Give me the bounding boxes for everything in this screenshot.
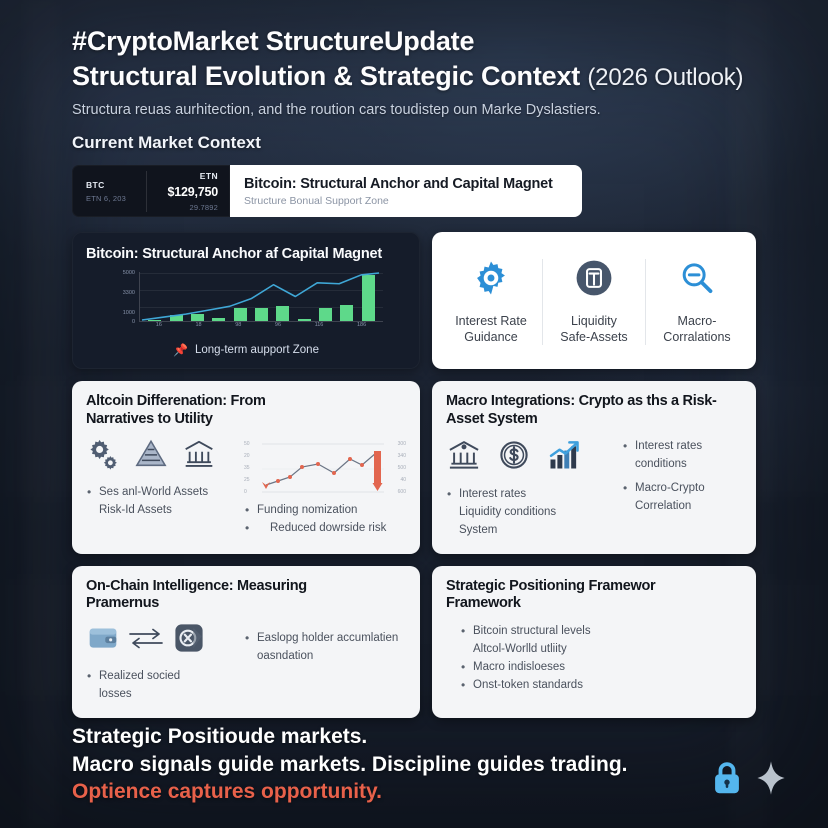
gear-target-icon xyxy=(472,259,510,302)
content-grid: Bitcoin: Structural Anchor af Capital Ma… xyxy=(72,232,756,718)
altcoin-right-bullets: Funding nomization Reduced dowrside risk xyxy=(244,503,406,539)
list-item: oasndation xyxy=(244,649,406,665)
pillar-label-line1: Liquidity xyxy=(560,313,627,329)
macro-left-bullets: Interest rates Liquidity conditions Syst… xyxy=(446,487,614,541)
list-item: Liquidity conditions xyxy=(446,505,614,521)
x-tick: 96 xyxy=(275,322,281,334)
macro-title-line1: Macro Integrations: Crypto as ths a Risk… xyxy=(446,393,742,410)
onchain-title-line2: Pramernus xyxy=(86,595,406,612)
pin-icon: 📌 xyxy=(173,343,188,357)
list-item: Interest rates xyxy=(622,439,742,455)
altcoin-differentiation-card[interactable]: Altcoin Differenation: From Narratives t… xyxy=(72,381,420,553)
pillar-label-line1: Interest Rate xyxy=(455,313,527,329)
pyramid-icon xyxy=(134,437,168,476)
list-item: Macro-Crypto xyxy=(622,481,742,497)
macro-icon-row xyxy=(446,437,614,478)
list-item: Easlopg holder accumlatien xyxy=(244,631,406,647)
macro-integrations-card[interactable]: Macro Integrations: Crypto as ths a Risk… xyxy=(432,381,756,553)
onchain-right-bullets: Easlopg holder accumlatien oasndation xyxy=(244,631,406,667)
pillar-interest-rate[interactable]: Interest Rate Guidance xyxy=(440,259,542,345)
transfer-arrows-icon xyxy=(126,625,166,656)
header-deck: Structura reuas aurhitection, and the ro… xyxy=(72,101,756,121)
list-item: conditions xyxy=(622,457,742,473)
page-title: Structural Evolution & Strategic Context… xyxy=(72,60,756,93)
magnifier-minus-icon xyxy=(678,259,716,302)
altcoin-title-line1: Altcoin Differenation: From xyxy=(86,393,406,410)
page-title-suffix: (2026 Outlook) xyxy=(587,64,743,91)
list-item: Risk-Id Assets xyxy=(86,503,236,519)
ticker-right-quote: ETN $129,750 29.7892 xyxy=(146,171,219,212)
altcoin-mini-chart: 50 20 35 25 0 300 340 500 40 600 xyxy=(244,439,406,497)
strategy-title-line1: Strategic Positioning Framewor xyxy=(446,578,742,595)
ticker-quote-panel[interactable]: BTC ETN 6, 203 ETN $129,750 29.7892 xyxy=(72,165,230,217)
growth-bars-icon xyxy=(546,437,582,478)
ticker-right-sub: 29.7892 xyxy=(189,203,218,212)
chart-plot-area xyxy=(139,272,383,322)
section-label: Current Market Context xyxy=(72,133,756,153)
y-tick: 1000 xyxy=(123,310,135,316)
strategy-title-line2: Framework xyxy=(446,595,742,612)
liquidity-box-icon xyxy=(575,259,613,302)
macro-right-bullets: Interest rates conditions Macro-Crypto C… xyxy=(622,439,742,516)
x-tick: 18 xyxy=(195,322,201,334)
pillar-label-line2: Guidance xyxy=(455,329,527,345)
pillar-label-line2: Corralations xyxy=(663,329,730,345)
list-item: Bitcoin structural levels xyxy=(460,624,742,640)
list-item: System xyxy=(446,523,614,539)
footer-icons xyxy=(710,759,788,802)
footer-line-1: Strategic Positioude markets. xyxy=(72,723,788,751)
page-title-main: Structural Evolution & Strategic Context xyxy=(72,61,580,91)
ticker-left-sub: ETN 6, 203 xyxy=(86,194,146,203)
ticker-headline: Bitcoin: Structural Anchor and Capital M… xyxy=(244,176,568,192)
exchange-icon xyxy=(172,621,206,660)
infographic-page: #CryptoMarket StructureUpdate Structural… xyxy=(0,0,828,828)
pillar-liquidity[interactable]: Liquidity Safe-Assets xyxy=(542,259,645,345)
bitcoin-chart-card[interactable]: Bitcoin: Structural Anchor af Capital Ma… xyxy=(72,232,420,369)
onchain-title-line1: On-Chain Intelligence: Measuring xyxy=(86,578,406,595)
x-tick: 186 xyxy=(357,322,366,334)
footer-line-2: Macro signals guide markets. Discipline … xyxy=(72,751,788,779)
header-block: #CryptoMarket StructureUpdate Structural… xyxy=(72,26,756,153)
chart-y-axis: 5000 3300 1000 0 xyxy=(107,272,137,334)
strategy-bullets: Bitcoin structural levels Altcol-Worlld … xyxy=(446,624,742,695)
list-item: Interest rates xyxy=(446,487,614,503)
list-item: Funding nomization xyxy=(244,503,406,519)
sparkle-icon xyxy=(754,759,788,802)
list-item: losses xyxy=(86,687,236,703)
list-item: Onst-token standards xyxy=(460,678,742,694)
bank-icon xyxy=(182,437,216,476)
bitcoin-chart-title: Bitcoin: Structural Anchor af Capital Ma… xyxy=(86,246,406,262)
market-ticker[interactable]: BTC ETN 6, 203 ETN $129,750 29.7892 Bitc… xyxy=(72,165,582,217)
onchain-icon-row xyxy=(86,621,236,660)
macro-title-line2: Asset System xyxy=(446,411,742,428)
strategic-positioning-card[interactable]: Strategic Positioning Framewor Framework… xyxy=(432,566,756,719)
x-tick: 16 xyxy=(156,322,162,334)
bitcoin-chart: 5000 3300 1000 0 xyxy=(86,272,406,334)
ticker-headline-panel[interactable]: Bitcoin: Structural Anchor and Capital M… xyxy=(230,165,582,217)
list-item: Ses anl-World Assets xyxy=(86,485,236,501)
list-item: Realized socied xyxy=(86,669,236,685)
y-tick: 0 xyxy=(132,319,135,325)
x-tick: 116 xyxy=(315,322,324,334)
pillar-macro-correlations[interactable]: Macro- Corralations xyxy=(645,259,748,345)
ticker-right-price: $129,750 xyxy=(167,185,218,199)
list-item: Correlation xyxy=(622,499,742,515)
pillar-label-line2: Safe-Assets xyxy=(560,329,627,345)
altcoin-icon-row xyxy=(86,437,236,476)
x-tick: 98 xyxy=(235,322,241,334)
altcoin-left-bullets: Ses anl-World Assets Risk-Id Assets xyxy=(86,485,236,521)
chart-line-series xyxy=(140,272,383,321)
wallet-icon xyxy=(86,621,120,660)
list-item: Altcol-Worlld utliity xyxy=(460,642,742,658)
ticker-note: Structure Bonual Support Zone xyxy=(244,195,568,207)
lock-icon xyxy=(710,759,744,802)
y-tick: 3300 xyxy=(123,290,135,296)
list-item: Reduced dowrside risk xyxy=(244,521,406,537)
chart-legend-label: Long-term aupport Zone xyxy=(195,344,319,356)
chart-x-axis: 16 18 98 96 116 186 xyxy=(139,322,383,334)
footer-block: Strategic Positioude markets. Macro sign… xyxy=(72,723,788,806)
footer-line-3: Optience captures opportunity. xyxy=(72,778,788,806)
ticker-right-symbol: ETN xyxy=(200,171,218,181)
list-item: Macro indisloeses xyxy=(460,660,742,676)
pillar-label-line1: Macro- xyxy=(663,313,730,329)
gears-icon xyxy=(86,437,120,476)
ticker-left-symbol: BTC xyxy=(86,180,146,190)
hashtag-line: #CryptoMarket StructureUpdate xyxy=(72,26,756,58)
altcoin-title-line2: Narratives to Utility xyxy=(86,411,406,428)
chart-legend: 📌 Long-term aupport Zone xyxy=(86,343,406,357)
ticker-left-quote: BTC ETN 6, 203 xyxy=(86,180,146,203)
bank-icon xyxy=(446,437,482,478)
y-tick: 5000 xyxy=(123,270,135,276)
dollar-circle-icon xyxy=(496,437,532,478)
market-pillars-card[interactable]: Interest Rate Guidance Liquidity xyxy=(432,232,756,369)
onchain-left-bullets: Realized socied losses xyxy=(86,669,236,705)
onchain-intelligence-card[interactable]: On-Chain Intelligence: Measuring Pramern… xyxy=(72,566,420,719)
